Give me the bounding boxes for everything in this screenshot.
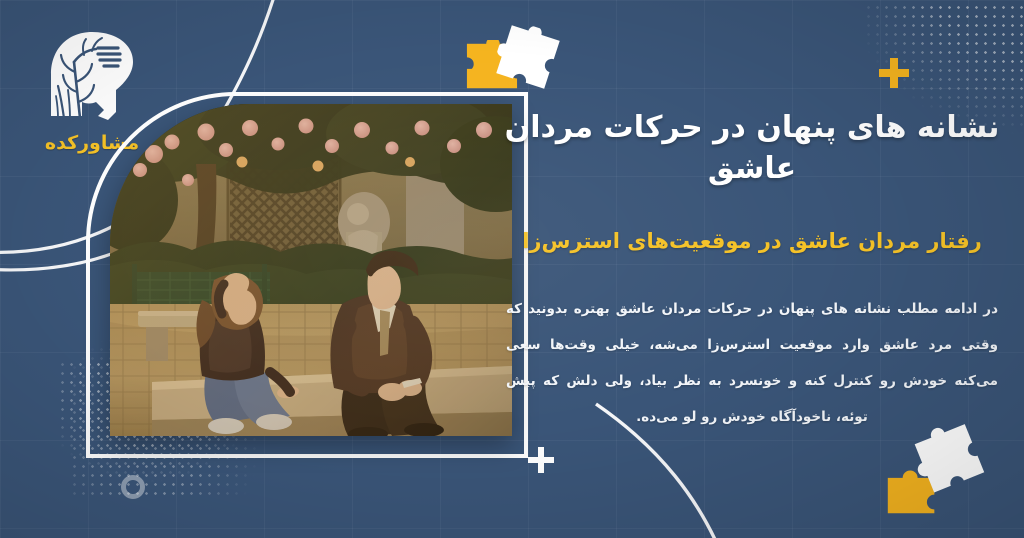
body-paragraph: در ادامه مطلب نشانه های پنهان در حرکات م… [500, 292, 1004, 435]
plus-gold-icon [877, 56, 911, 90]
plus-white-icon [527, 446, 555, 474]
page-title: نشانه های پنهان در حرکات مردان عاشق [500, 108, 1004, 189]
photo-illustration [110, 104, 512, 436]
circle-outline-icon [121, 475, 145, 499]
subtitle: رفتار مردان عاشق در موقعیت‌های استرس‌زا [500, 227, 1004, 256]
banner-canvas: مشاورکده [0, 0, 1024, 538]
text-column: نشانه های پنهان در حرکات مردان عاشق رفتا… [500, 108, 1004, 435]
hero-photo [110, 104, 512, 436]
